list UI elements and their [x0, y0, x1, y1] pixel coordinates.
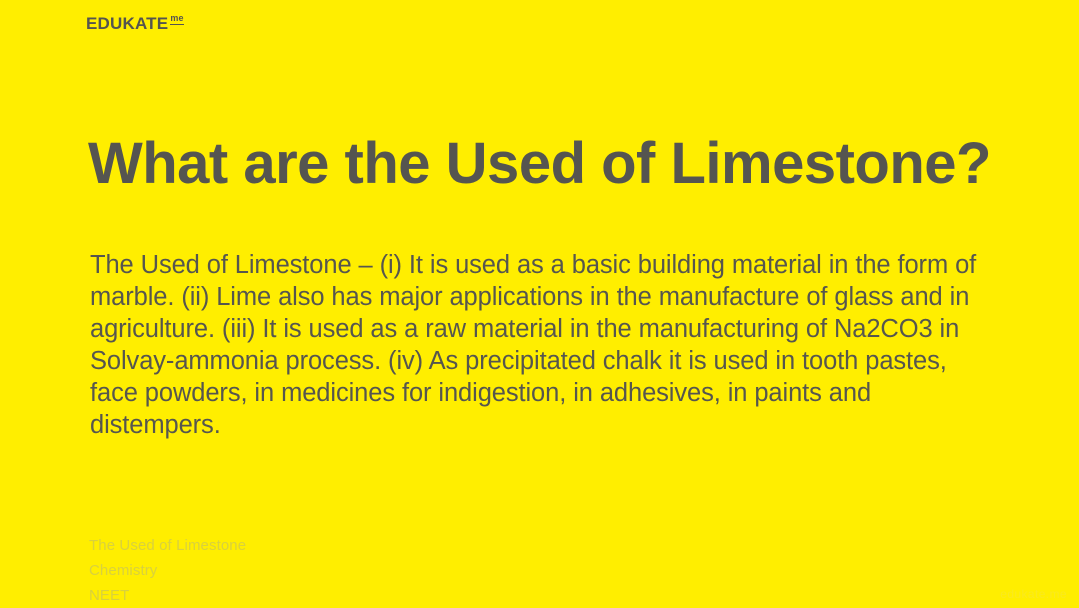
brand-logo-name: EDUKATE	[86, 15, 168, 32]
brand-logo[interactable]: EDUKATEme	[86, 15, 184, 32]
footer-topic: The Used of Limestone	[89, 533, 246, 558]
slide-title: What are the Used of Limestone?	[88, 132, 1028, 197]
watermark-label: edukate.me	[1000, 587, 1067, 601]
slide-footer: The Used of Limestone Chemistry NEET	[89, 533, 246, 608]
footer-exam: NEET	[89, 583, 246, 608]
footer-subject: Chemistry	[89, 558, 246, 583]
brand-logo-superscript: me	[170, 14, 183, 25]
slide-canvas: EDUKATEme What are the Used of Limestone…	[0, 0, 1079, 607]
slide-body-text: The Used of Limestone – (i) It is used a…	[90, 249, 985, 441]
